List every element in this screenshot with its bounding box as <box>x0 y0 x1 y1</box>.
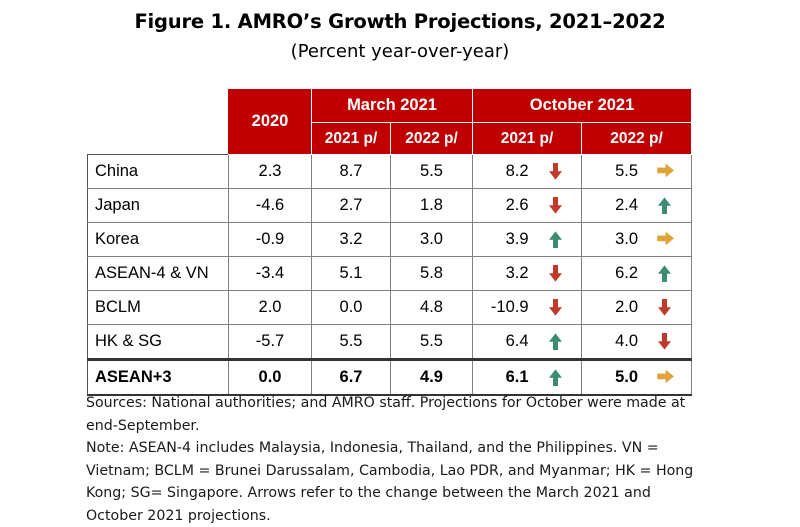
table-row: BCLM2.00.04.8-10.92.0 <box>88 291 692 325</box>
cell-october-2021: 6.4 <box>473 325 582 360</box>
table-row: Japan-4.62.71.82.62.4 <box>88 189 692 223</box>
cell-october-2021-content: 2.6 <box>473 189 581 222</box>
cell-october-2021-value: 3.9 <box>491 230 529 249</box>
page-subtitle: (Percent year-over-year) <box>0 41 800 62</box>
cell-2020: -4.6 <box>229 189 312 223</box>
cell-march-2022: 4.9 <box>391 360 473 396</box>
cell-october-2022-value: 5.5 <box>600 162 638 181</box>
cell-october-2022-content: 5.5 <box>582 155 691 188</box>
cell-2020: 0.0 <box>229 360 312 396</box>
cell-october-2022: 5.5 <box>582 155 692 189</box>
table-row: ASEAN+30.06.74.96.15.0 <box>88 360 692 396</box>
table-body: China2.38.75.58.25.5Japan-4.62.71.82.62.… <box>88 155 692 396</box>
cell-october-2021-value: 6.4 <box>491 332 529 351</box>
row-label: Korea <box>88 223 229 257</box>
cell-october-2022: 4.0 <box>582 325 692 360</box>
cell-october-2022-content: 5.0 <box>582 361 691 394</box>
cell-october-2022-content: 4.0 <box>582 325 691 358</box>
cell-october-2021: 8.2 <box>473 155 582 189</box>
header-october-2022p: 2022 p/ <box>582 123 692 155</box>
header-group-october-2021: October 2021 <box>473 89 692 123</box>
cell-october-2022: 2.0 <box>582 291 692 325</box>
header-group-march-2021: March 2021 <box>312 89 473 123</box>
cell-october-2021: 2.6 <box>473 189 582 223</box>
arrow-right-icon <box>656 368 673 387</box>
cell-2020: -0.9 <box>229 223 312 257</box>
cell-october-2021-value: 6.1 <box>491 368 529 387</box>
arrow-down-icon <box>656 298 673 317</box>
cell-october-2022: 3.0 <box>582 223 692 257</box>
cell-october-2022-value: 2.4 <box>600 196 638 215</box>
cell-october-2021-content: 3.2 <box>473 257 581 290</box>
cell-october-2021-value: -10.9 <box>491 298 529 317</box>
cell-october-2021: -10.9 <box>473 291 582 325</box>
arrow-down-icon <box>547 196 564 215</box>
cell-october-2022: 2.4 <box>582 189 692 223</box>
table-row: HK & SG-5.75.55.56.44.0 <box>88 325 692 360</box>
footnote-sources: Sources: National authorities; and AMRO … <box>86 392 706 437</box>
arrow-up-icon <box>547 230 564 249</box>
cell-march-2022: 4.8 <box>391 291 473 325</box>
arrow-up-icon <box>547 332 564 351</box>
cell-october-2021-value: 8.2 <box>491 162 529 181</box>
cell-october-2021-value: 3.2 <box>491 264 529 283</box>
header-october-2021p: 2021 p/ <box>473 123 582 155</box>
row-label: ASEAN+3 <box>88 360 229 396</box>
arrow-up-icon <box>656 264 673 283</box>
arrow-down-icon <box>656 332 673 351</box>
cell-october-2021: 3.9 <box>473 223 582 257</box>
table-row: Korea-0.93.23.03.93.0 <box>88 223 692 257</box>
arrow-right-icon <box>656 230 673 249</box>
arrow-up-icon <box>656 196 673 215</box>
cell-october-2021-content: 8.2 <box>473 155 581 188</box>
projections-table: 2020 March 2021 October 2021 2021 p/ 202… <box>87 88 692 396</box>
cell-october-2022-value: 2.0 <box>600 298 638 317</box>
cell-march-2022: 3.0 <box>391 223 473 257</box>
cell-march-2021: 0.0 <box>312 291 391 325</box>
header-march-2021p: 2021 p/ <box>312 123 391 155</box>
header-label-column <box>88 89 229 155</box>
cell-october-2022-content: 2.4 <box>582 189 691 222</box>
row-label: ASEAN-4 & VN <box>88 257 229 291</box>
cell-october-2022-content: 2.0 <box>582 291 691 324</box>
cell-october-2022-value: 5.0 <box>600 368 638 387</box>
cell-march-2021: 2.7 <box>312 189 391 223</box>
cell-october-2021-content: 3.9 <box>473 223 581 256</box>
row-label: BCLM <box>88 291 229 325</box>
figure-page: Figure 1. AMRO’s Growth Projections, 202… <box>0 0 800 518</box>
header-march-2022p: 2022 p/ <box>391 123 473 155</box>
header-col-2020: 2020 <box>229 89 312 155</box>
cell-march-2021: 5.1 <box>312 257 391 291</box>
arrow-down-icon <box>547 264 564 283</box>
cell-october-2021: 3.2 <box>473 257 582 291</box>
row-label: Japan <box>88 189 229 223</box>
projections-table-container: 2020 March 2021 October 2021 2021 p/ 202… <box>87 88 691 396</box>
cell-march-2022: 5.8 <box>391 257 473 291</box>
arrow-up-icon <box>547 368 564 387</box>
cell-2020: 2.0 <box>229 291 312 325</box>
table-header: 2020 March 2021 October 2021 2021 p/ 202… <box>88 89 692 155</box>
cell-march-2021: 3.2 <box>312 223 391 257</box>
row-label: HK & SG <box>88 325 229 360</box>
arrow-down-icon <box>547 298 564 317</box>
cell-2020: -3.4 <box>229 257 312 291</box>
table-header-row-groups: 2020 March 2021 October 2021 <box>88 89 692 123</box>
cell-october-2022-content: 3.0 <box>582 223 691 256</box>
cell-march-2021: 8.7 <box>312 155 391 189</box>
cell-october-2022-content: 6.2 <box>582 257 691 290</box>
arrow-right-icon <box>656 162 673 181</box>
arrow-down-icon <box>547 162 564 181</box>
cell-october-2022-value: 4.0 <box>600 332 638 351</box>
row-label: China <box>88 155 229 189</box>
cell-march-2022: 5.5 <box>391 155 473 189</box>
cell-march-2021: 5.5 <box>312 325 391 360</box>
footnote-note: Note: ASEAN-4 includes Malaysia, Indones… <box>86 437 706 527</box>
cell-october-2021-value: 2.6 <box>491 196 529 215</box>
cell-march-2021: 6.7 <box>312 360 391 396</box>
page-title: Figure 1. AMRO’s Growth Projections, 202… <box>0 10 800 33</box>
cell-march-2022: 5.5 <box>391 325 473 360</box>
cell-october-2021-content: -10.9 <box>473 291 581 324</box>
cell-october-2022-value: 6.2 <box>600 264 638 283</box>
cell-october-2021: 6.1 <box>473 360 582 396</box>
cell-october-2021-content: 6.4 <box>473 325 581 358</box>
table-row: China2.38.75.58.25.5 <box>88 155 692 189</box>
cell-2020: -5.7 <box>229 325 312 360</box>
cell-october-2022-value: 3.0 <box>600 230 638 249</box>
cell-2020: 2.3 <box>229 155 312 189</box>
table-row: ASEAN-4 & VN-3.45.15.83.26.2 <box>88 257 692 291</box>
cell-march-2022: 1.8 <box>391 189 473 223</box>
cell-october-2021-content: 6.1 <box>473 361 581 394</box>
cell-october-2022: 5.0 <box>582 360 692 396</box>
cell-october-2022: 6.2 <box>582 257 692 291</box>
footnotes: Sources: National authorities; and AMRO … <box>86 392 706 527</box>
